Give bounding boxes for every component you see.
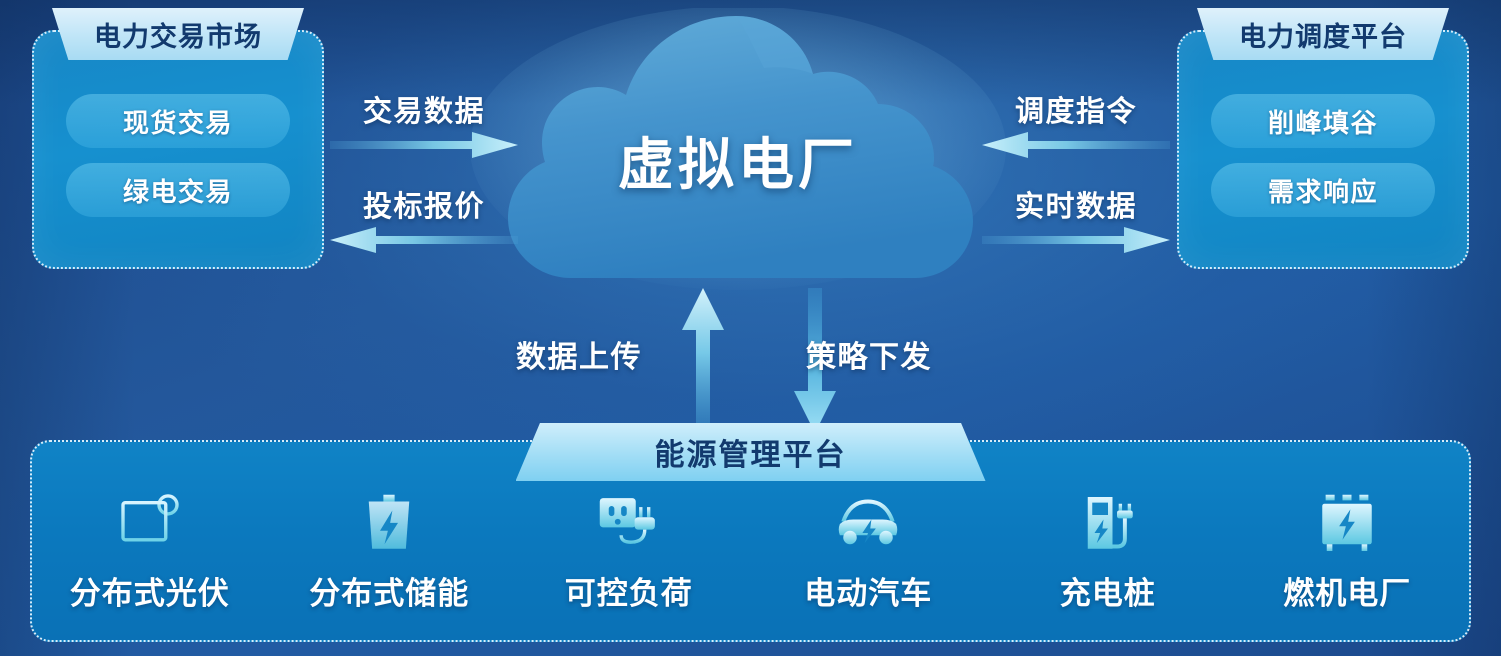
flow-realtime-data-label: 实时数据 (982, 183, 1170, 225)
panel-right-items: 削峰填谷 需求响应 (1179, 94, 1467, 232)
panel-left-items: 现货交易 绿电交易 (34, 94, 322, 232)
flow-dispatch-command-label: 调度指令 (982, 88, 1170, 130)
asset-item-gas-turbine-plant[interactable]: 燃机电厂 (1242, 488, 1452, 613)
list-item-label: 绿电交易 (123, 172, 233, 209)
panel-power-dispatch-platform[interactable]: 电力调度平台 削峰填谷 需求响应 (1177, 30, 1469, 269)
arrow-right-icon (982, 227, 1170, 253)
panel-left-banner-label: 电力交易市场 (94, 15, 262, 54)
list-item-label: 现货交易 (123, 103, 233, 140)
flow-realtime-data: 实时数据 (982, 213, 1170, 267)
asset-item-storage[interactable]: 分布式储能 (284, 488, 494, 613)
panel-power-trading-market[interactable]: 电力交易市场 现货交易 绿电交易 (32, 30, 324, 269)
flow-bid-price: 投标报价 (330, 213, 518, 267)
asset-item-solar[interactable]: 分布式光伏 (45, 488, 255, 613)
arrow-right-icon (330, 132, 518, 158)
flow-trade-data: 交易数据 (330, 118, 518, 172)
power-outlet-icon (593, 488, 665, 560)
arrow-left-icon (982, 132, 1170, 158)
asset-item-electric-vehicle[interactable]: 电动汽车 (763, 488, 973, 613)
list-item-label: 削峰填谷 (1268, 103, 1378, 140)
asset-item-controllable-load[interactable]: 可控负荷 (524, 488, 734, 613)
flow-trade-data-label: 交易数据 (330, 88, 518, 130)
ems-banner-label: 能源管理平台 (655, 430, 847, 474)
cloud-label: 虚拟电厂 (468, 120, 1008, 201)
asset-item-charging-pile[interactable]: 充电桩 (1003, 488, 1213, 613)
asset-label: 分布式储能 (309, 568, 469, 613)
asset-label: 电动汽车 (804, 568, 932, 613)
list-item[interactable]: 绿电交易 (66, 163, 290, 217)
arrow-up-icon (680, 288, 726, 433)
panel-left-banner: 电力交易市场 (52, 8, 304, 60)
asset-label: 分布式光伏 (70, 568, 230, 613)
list-item[interactable]: 削峰填谷 (1211, 94, 1435, 148)
diagram-canvas: 电力交易市场 现货交易 绿电交易 电力调度平台 削峰填谷 需求响应 (0, 0, 1501, 656)
solar-panel-icon (114, 488, 186, 560)
panel-right-banner: 电力调度平台 (1197, 8, 1449, 60)
flow-strategy-push-label: 策略下发 (806, 332, 932, 376)
asset-label: 充电桩 (1060, 568, 1156, 613)
gas-turbine-plant-icon (1311, 488, 1383, 560)
arrow-left-icon (330, 227, 518, 253)
asset-list: 分布式光伏 分布式储能 (30, 488, 1467, 636)
list-item-label: 需求响应 (1268, 172, 1378, 209)
flow-dispatch-command: 调度指令 (982, 118, 1170, 172)
energy-storage-icon (353, 488, 425, 560)
flow-bid-price-label: 投标报价 (330, 183, 518, 225)
list-item[interactable]: 需求响应 (1211, 163, 1435, 217)
ems-banner[interactable]: 能源管理平台 (516, 423, 986, 481)
panel-right-banner-label: 电力调度平台 (1239, 15, 1407, 54)
electric-car-icon (832, 488, 904, 560)
asset-label: 燃机电厂 (1283, 568, 1411, 613)
asset-label: 可控负荷 (565, 568, 693, 613)
flow-data-upload-label: 数据上传 (516, 332, 642, 376)
charging-pile-icon (1072, 488, 1144, 560)
flow-strategy-push: 策略下发 (740, 288, 890, 438)
virtual-power-plant-node[interactable]: 虚拟电厂 (468, 8, 1008, 298)
list-item[interactable]: 现货交易 (66, 94, 290, 148)
